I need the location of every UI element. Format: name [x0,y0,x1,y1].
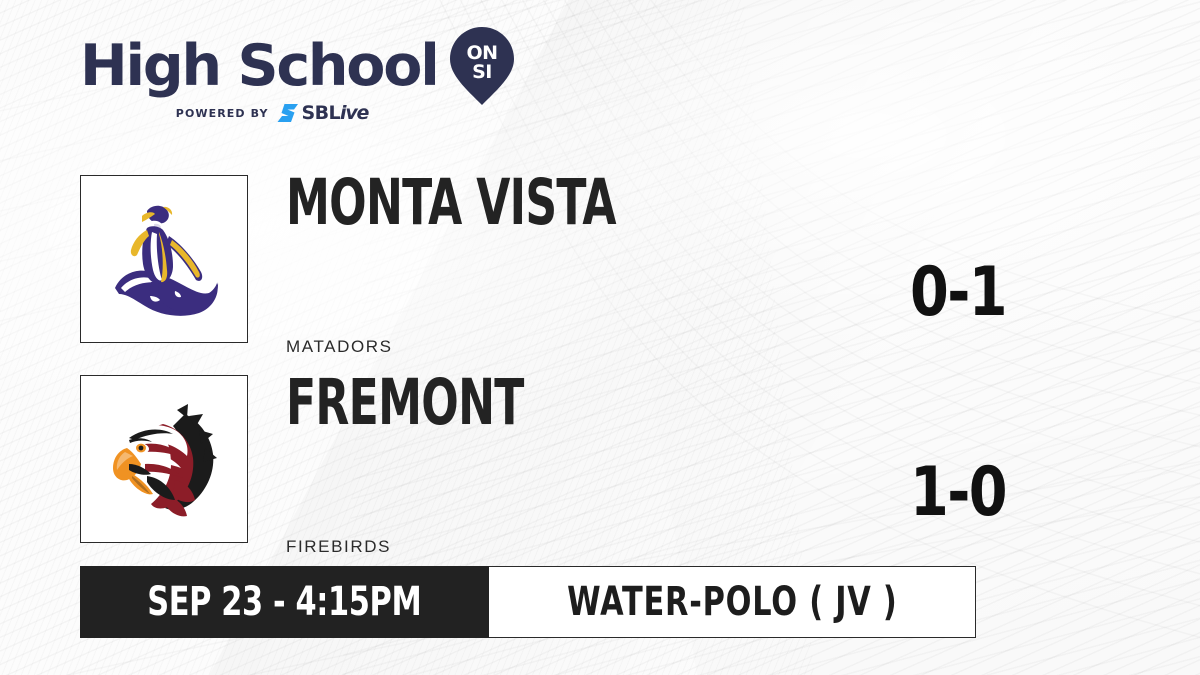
team-row-away: MONTA VISTA MATADORS 0-1 [80,175,1130,345]
sblive-word-main: SBL [302,102,340,124]
brand-wordmark: High School [80,38,438,95]
team-mascot-away: MATADORS [286,337,393,357]
team-record-home: 1-0 [910,459,1006,527]
game-sport-block: WATER-POLO ( JV ) [489,566,977,638]
on-si-pin-icon: ON SI [448,25,516,107]
powered-by-row: POWERED BY SBLive [80,103,510,123]
monta-vista-matador-logo [80,175,248,343]
team-name-home: FREMONT [286,371,524,434]
sblive-bolt-icon [277,103,299,123]
matador-icon [89,184,239,334]
team-text-home: FREMONT FIREBIRDS [286,375,986,545]
game-datetime-block: SEP 23 - 4:15PM [80,566,489,638]
fremont-firebird-logo [80,375,248,543]
brand-row: High School ON SI [80,33,510,99]
team-name-away: MONTA VISTA [286,171,616,234]
matchup-graphic: High School ON SI POWERED BY SBLive [0,0,1200,675]
team-record-away: 0-1 [910,259,1006,327]
team-row-home: FREMONT FIREBIRDS 1-0 [80,375,1130,545]
sblive-logo: SBLive [277,103,369,123]
team-text-away: MONTA VISTA MATADORS [286,175,986,345]
game-sport-text: WATER-POLO ( JV ) [567,582,897,622]
on-si-pin-line2: SI [472,61,492,83]
sblive-word-italic: ive [340,102,368,124]
game-datetime-text: SEP 23 - 4:15PM [147,582,421,622]
firebird-icon [89,384,239,534]
brand-lockup: High School ON SI POWERED BY SBLive [80,33,510,123]
powered-by-label: POWERED BY [176,107,269,120]
sblive-wordmark: SBLive [302,104,369,123]
team-mascot-home: FIREBIRDS [286,537,391,557]
game-info-banner: SEP 23 - 4:15PM WATER-POLO ( JV ) [80,566,976,638]
